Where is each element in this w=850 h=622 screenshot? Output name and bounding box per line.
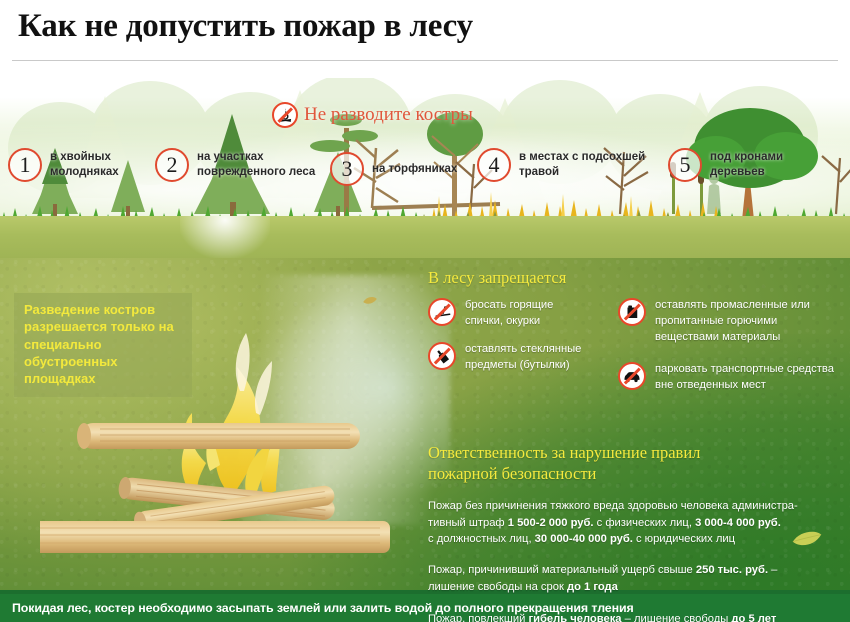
numbered-item-3: 3 на торфяниках: [330, 152, 457, 186]
forbidden-label-parking: парковать транспортные средствавне отвед…: [655, 362, 834, 394]
item-number-4: 4: [477, 148, 511, 182]
item-number-5: 5: [668, 148, 702, 182]
forbidden-items: бросать горящиеспички, окурки оставл: [428, 296, 846, 392]
leaf-icon: [362, 296, 378, 305]
forbidden-label-matches: бросать горящиеспички, окурки: [465, 298, 553, 330]
item-label-4: в местах с подсохшейтравой: [519, 150, 645, 179]
no-campfire-heading: Не разводите костры: [272, 102, 473, 128]
no-matches-icon: [428, 298, 456, 326]
numbered-items-row: 1 в хвойныхмолодняках 2 на участкахповре…: [0, 0, 850, 196]
no-glass-bottle-icon: [428, 342, 456, 370]
numbered-item-5: 5 под кронамидеревьев: [668, 148, 783, 182]
penalty-paragraph-1: Пожар без причинения тяжкого вреда здоро…: [428, 498, 836, 548]
forbidden-heading: В лесу запрещается: [428, 268, 846, 288]
forbidden-label-glass: оставлять стеклянныепредметы (бутылки): [465, 342, 581, 374]
callout-box: Разведение костров разрешается только на…: [14, 293, 192, 397]
item-number-2: 2: [155, 148, 189, 182]
river: [180, 216, 270, 258]
leaf-icon-2: [792, 530, 822, 548]
no-campfire-label: Не разводите костры: [304, 104, 473, 126]
item-label-3: на торфяниках: [372, 162, 457, 177]
item-number-1: 1: [8, 148, 42, 182]
numbered-item-1: 1 в хвойныхмолодняках: [8, 148, 119, 182]
numbered-item-4: 4 в местах с подсохшейтравой: [477, 148, 645, 182]
item-label-5: под кронамидеревьев: [710, 150, 783, 179]
penalty-paragraph-2: Пожар, причинивший материальный ущерб св…: [428, 562, 836, 595]
responsibility-heading: Ответственность за нарушение правилпожар…: [428, 442, 846, 484]
no-campfire-icon: [272, 102, 298, 128]
forbidden-item-fuel: оставлять промасленные илипропитанные го…: [618, 298, 848, 346]
no-parking-car-icon: [618, 362, 646, 390]
no-fuel-canister-icon: [618, 298, 646, 326]
numbered-item-2: 2 на участкахповрежденного леса: [155, 148, 315, 182]
callout-text: Разведение костров разрешается только на…: [24, 301, 182, 387]
forbidden-item-glass: оставлять стеклянныепредметы (бутылки): [428, 342, 623, 374]
ground-strip: [0, 216, 850, 258]
penalty-paragraph-3: Пожар, повлекший гибель человека – лишен…: [428, 611, 836, 622]
forbidden-label-fuel: оставлять промасленные илипропитанные го…: [655, 298, 810, 346]
item-number-3: 3: [330, 152, 364, 186]
forbidden-item-parking: парковать транспортные средствавне отвед…: [618, 362, 848, 394]
infographic-page: Как не допустить пожар в лесу Во избежан…: [0, 0, 850, 622]
item-label-1: в хвойныхмолодняках: [50, 150, 119, 179]
item-label-2: на участкахповрежденного леса: [197, 150, 315, 179]
forbidden-item-matches: бросать горящиеспички, окурки: [428, 298, 608, 330]
right-column: В лесу запрещается бросать горящиеспички…: [428, 258, 846, 594]
